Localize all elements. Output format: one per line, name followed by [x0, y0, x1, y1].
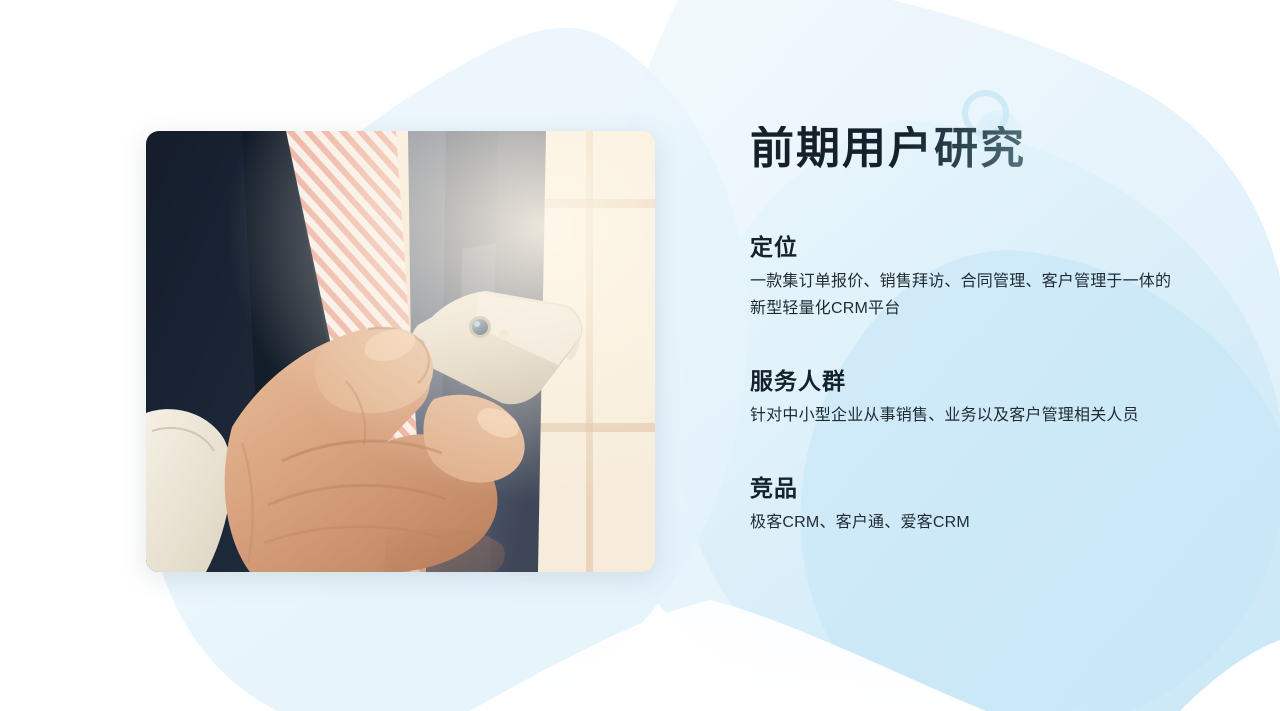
section-list: 定位 一款集订单报价、销售拜访、合同管理、客户管理于一体的新型轻量化CRM平台 … — [750, 232, 1220, 536]
hero-photo — [146, 131, 655, 572]
page-title-block: 前期用户研究 — [750, 126, 1026, 184]
section-competitors: 竞品 极客CRM、客户通、爱客CRM — [750, 473, 1220, 536]
page-title: 前期用户研究 — [750, 126, 1026, 172]
section-target-audience: 服务人群 针对中小型企业从事销售、业务以及客户管理相关人员 — [750, 366, 1220, 429]
slide-canvas: 前期用户研究 定位 一款集订单报价、销售拜访、合同管理、客户管理于一体的新型轻量… — [0, 0, 1280, 711]
section-body: 一款集订单报价、销售拜访、合同管理、客户管理于一体的新型轻量化CRM平台 — [750, 268, 1184, 322]
section-heading: 服务人群 — [750, 366, 1220, 397]
section-body: 针对中小型企业从事销售、业务以及客户管理相关人员 — [750, 402, 1184, 429]
section-body: 极客CRM、客户通、爱客CRM — [750, 509, 1184, 536]
section-positioning: 定位 一款集订单报价、销售拜访、合同管理、客户管理于一体的新型轻量化CRM平台 — [750, 232, 1220, 322]
section-heading: 竞品 — [750, 473, 1220, 504]
content-column: 前期用户研究 定位 一款集订单报价、销售拜访、合同管理、客户管理于一体的新型轻量… — [750, 0, 1220, 711]
section-heading: 定位 — [750, 232, 1220, 263]
